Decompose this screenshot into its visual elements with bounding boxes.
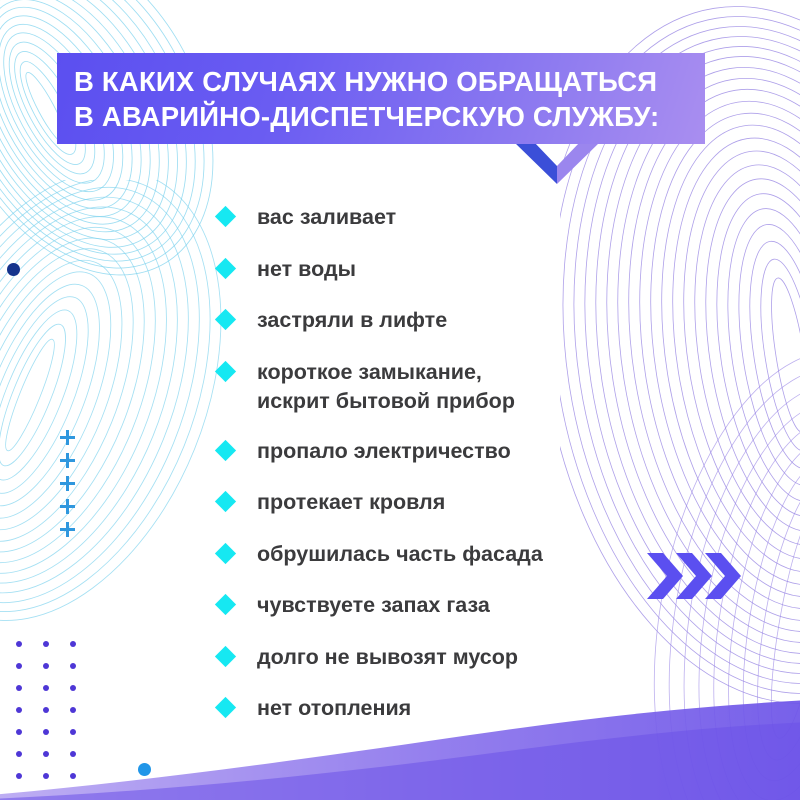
diamond-bullet-icon xyxy=(215,360,236,381)
grid-dot xyxy=(43,641,49,647)
diamond-bullet-icon xyxy=(215,697,236,718)
grid-dot xyxy=(16,707,22,713)
plus-icon xyxy=(60,499,75,514)
list-item-label: вас заливает xyxy=(257,203,396,232)
navy-dot-decoration xyxy=(7,263,20,276)
list-item: протекает кровля xyxy=(218,488,688,517)
list-item: нет отопления xyxy=(218,694,688,723)
plus-icon xyxy=(60,430,75,445)
list-item: чувствуете запах газа xyxy=(218,591,688,620)
grid-dot xyxy=(43,751,49,757)
list-item: нет воды xyxy=(218,255,688,284)
diamond-bullet-icon xyxy=(215,206,236,227)
plus-icon xyxy=(60,453,75,468)
poster-canvas: В КАКИХ СЛУЧАЯХ НУЖНО ОБРАЩАТЬСЯ В АВАРИ… xyxy=(0,0,800,800)
grid-dot xyxy=(16,773,22,779)
list-item-label: нет воды xyxy=(257,255,356,284)
diamond-bullet-icon xyxy=(215,594,236,615)
list-item: застряли в лифте xyxy=(218,306,688,335)
title-line-2: В АВАРИЙНО-ДИСПЕТЧЕРСКУЮ СЛУЖБУ: xyxy=(74,99,705,134)
title-banner: В КАКИХ СЛУЧАЯХ НУЖНО ОБРАЩАТЬСЯ В АВАРИ… xyxy=(57,53,705,144)
plus-icon xyxy=(60,522,75,537)
grid-dot xyxy=(16,685,22,691)
list-item-label: короткое замыкание, искрит бытовой прибо… xyxy=(257,358,515,416)
grid-dot xyxy=(70,751,76,757)
list-item-label: чувствуете запах газа xyxy=(257,591,490,620)
grid-dot xyxy=(16,663,22,669)
dot-grid-decoration xyxy=(16,641,97,795)
diamond-bullet-icon xyxy=(215,645,236,666)
grid-dot xyxy=(70,707,76,713)
list-item: долго не вывозят мусор xyxy=(218,643,688,672)
chevrons-right-icon xyxy=(645,551,741,601)
list-item: пропало электричество xyxy=(218,437,688,466)
list-item-label: застряли в лифте xyxy=(257,306,447,335)
grid-dot xyxy=(70,729,76,735)
grid-dot xyxy=(16,729,22,735)
grid-dot xyxy=(43,707,49,713)
grid-dot xyxy=(70,641,76,647)
list-item-label: обрушилась часть фасада xyxy=(257,540,543,569)
list-item: обрушилась часть фасада xyxy=(218,540,688,569)
diamond-bullet-icon xyxy=(215,439,236,460)
grid-dot xyxy=(16,641,22,647)
list-item-label: протекает кровля xyxy=(257,488,445,517)
title-line-1: В КАКИХ СЛУЧАЯХ НУЖНО ОБРАЩАТЬСЯ xyxy=(74,64,705,99)
list-item-label: долго не вывозят мусор xyxy=(257,643,518,672)
diamond-bullet-icon xyxy=(215,542,236,563)
grid-dot xyxy=(43,729,49,735)
grid-dot xyxy=(43,663,49,669)
list-item: короткое замыкание, искрит бытовой прибо… xyxy=(218,358,688,416)
plus-marks-decoration xyxy=(60,430,75,545)
list-item-label: пропало электричество xyxy=(257,437,511,466)
grid-dot xyxy=(43,685,49,691)
reasons-list: вас заливает нет воды застряли в лифте к… xyxy=(218,203,688,746)
list-item-label: нет отопления xyxy=(257,694,411,723)
grid-dot xyxy=(43,773,49,779)
plus-icon xyxy=(60,476,75,491)
blue-dot-decoration xyxy=(138,763,151,776)
chevron-down-icon xyxy=(514,142,600,184)
grid-dot xyxy=(70,685,76,691)
diamond-bullet-icon xyxy=(215,257,236,278)
diamond-bullet-icon xyxy=(215,309,236,330)
grid-dot xyxy=(70,663,76,669)
diamond-bullet-icon xyxy=(215,491,236,512)
grid-dot xyxy=(70,773,76,779)
list-item: вас заливает xyxy=(218,203,688,232)
grid-dot xyxy=(16,751,22,757)
